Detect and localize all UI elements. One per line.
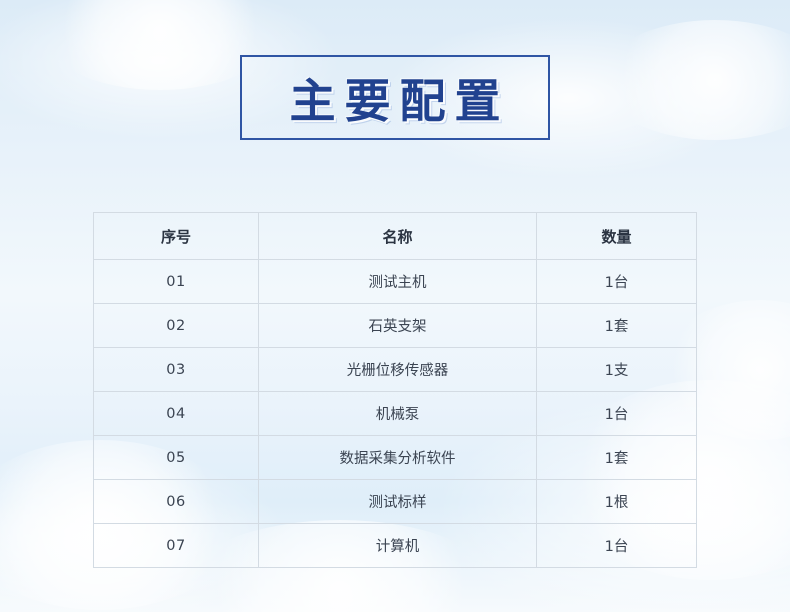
cell-qty: 1根 [537, 480, 697, 524]
cell-name: 测试标样 [259, 480, 537, 524]
table-row: 05 数据采集分析软件 1套 [94, 436, 697, 480]
cell-qty: 1套 [537, 304, 697, 348]
cloud-decoration [600, 20, 790, 140]
config-table-container: 序号 名称 数量 01 测试主机 1台 02 石英支架 1套 03 光栅位移传感… [93, 212, 696, 568]
cell-index: 02 [94, 304, 259, 348]
cell-qty: 1支 [537, 348, 697, 392]
cell-name: 石英支架 [259, 304, 537, 348]
cell-name: 测试主机 [259, 260, 537, 304]
cell-qty: 1台 [537, 260, 697, 304]
cell-name: 计算机 [259, 524, 537, 568]
page-title: 主要配置 [240, 55, 550, 140]
table-header-row: 序号 名称 数量 [94, 213, 697, 260]
table-row: 04 机械泵 1台 [94, 392, 697, 436]
cell-name: 机械泵 [259, 392, 537, 436]
column-header-name: 名称 [259, 213, 537, 260]
table-row: 06 测试标样 1根 [94, 480, 697, 524]
column-header-index: 序号 [94, 213, 259, 260]
cell-index: 01 [94, 260, 259, 304]
table-row: 07 计算机 1台 [94, 524, 697, 568]
page-background: 主要配置 序号 名称 数量 01 测试主机 1台 02 [0, 0, 790, 612]
table-row: 03 光栅位移传感器 1支 [94, 348, 697, 392]
cell-index: 07 [94, 524, 259, 568]
config-table: 序号 名称 数量 01 测试主机 1台 02 石英支架 1套 03 光栅位移传感… [93, 212, 697, 568]
cell-index: 03 [94, 348, 259, 392]
cell-index: 04 [94, 392, 259, 436]
table-row: 01 测试主机 1台 [94, 260, 697, 304]
cell-name: 光栅位移传感器 [259, 348, 537, 392]
cell-qty: 1套 [537, 436, 697, 480]
cell-qty: 1台 [537, 392, 697, 436]
cell-index: 06 [94, 480, 259, 524]
column-header-qty: 数量 [537, 213, 697, 260]
table-row: 02 石英支架 1套 [94, 304, 697, 348]
cell-index: 05 [94, 436, 259, 480]
cell-qty: 1台 [537, 524, 697, 568]
cell-name: 数据采集分析软件 [259, 436, 537, 480]
